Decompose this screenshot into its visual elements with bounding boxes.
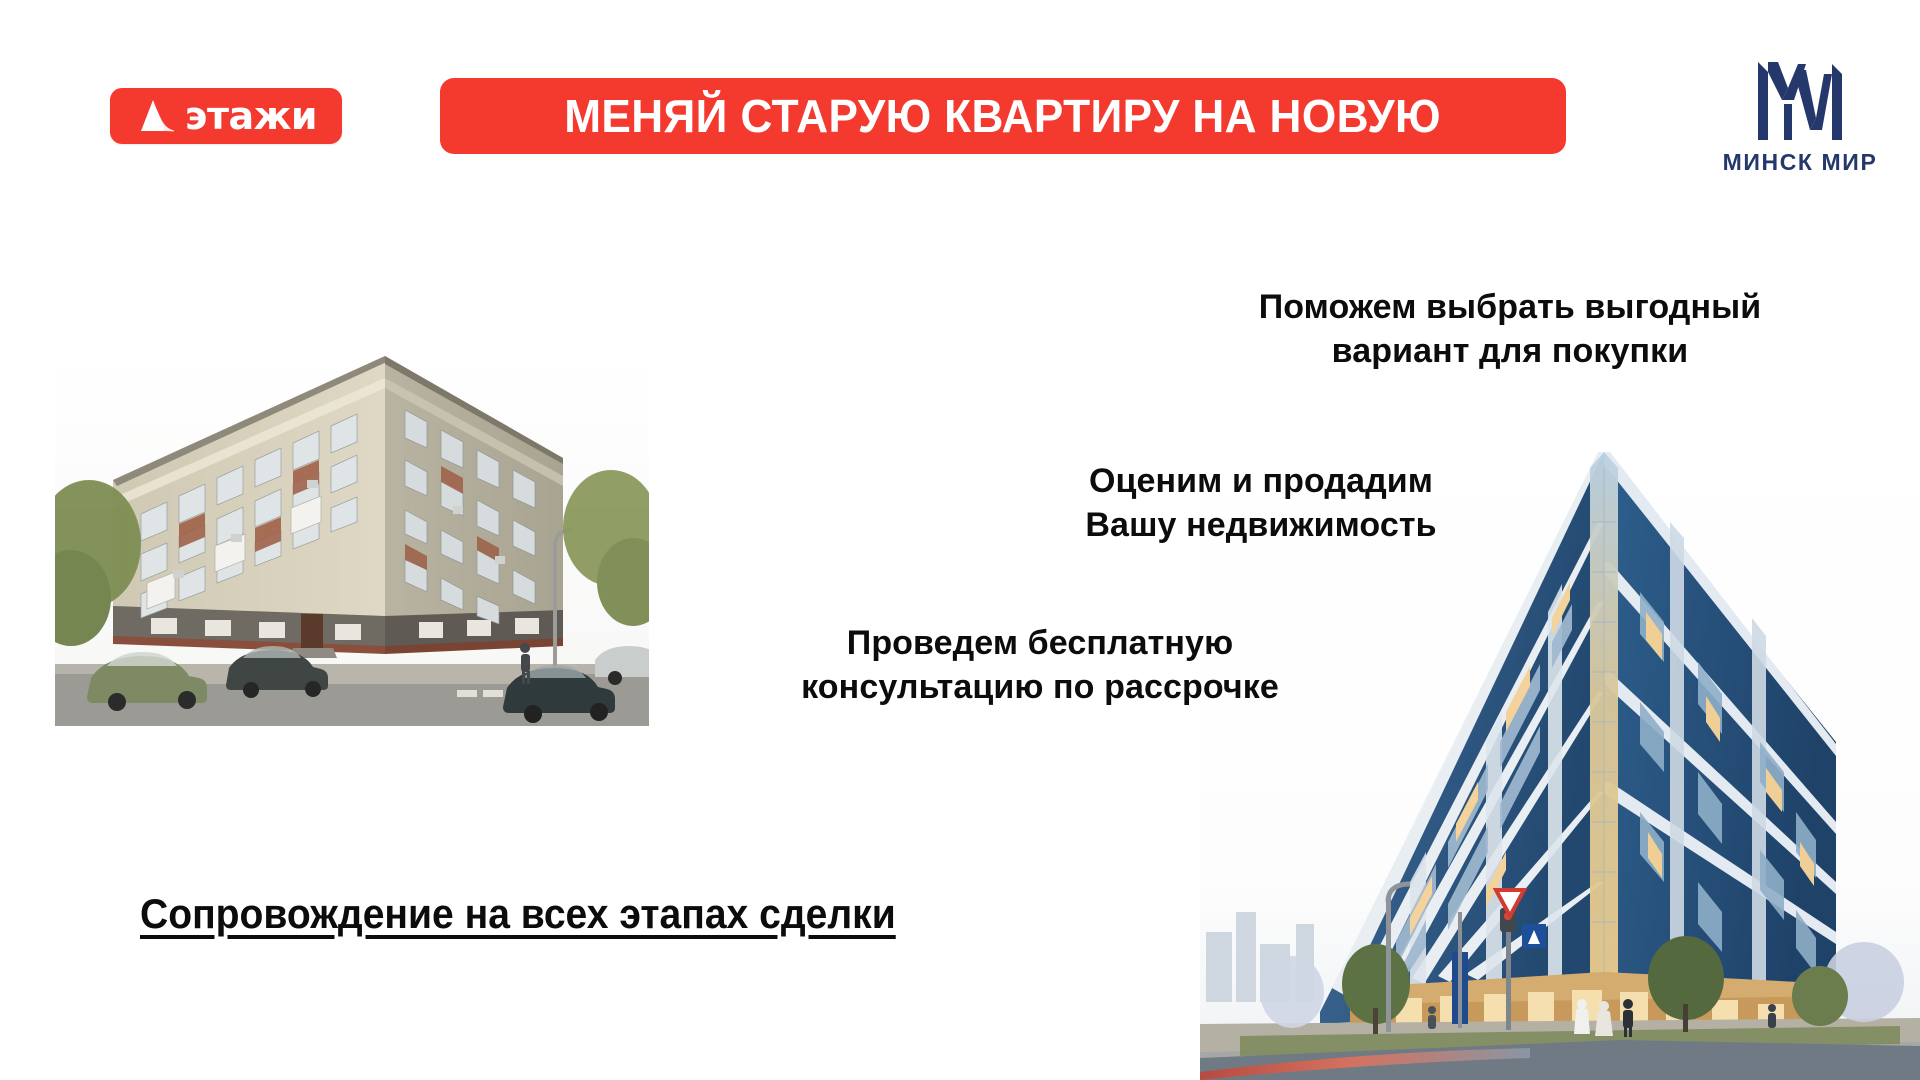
minsk-mir-logo-word: МИНСК МИР xyxy=(1723,151,1878,174)
promo-choose-line-1: Поможем выбрать выгодный xyxy=(1230,286,1790,330)
old-building-photo xyxy=(55,348,649,726)
promo-consult-line-1: Проведем бесплатную xyxy=(770,622,1310,666)
promo-choose-line-2: вариант для покупки xyxy=(1230,330,1790,374)
etazhi-logo-badge[interactable]: этажи xyxy=(110,88,342,144)
promo-choose: Поможем выбрать выгодный вариант для пок… xyxy=(1230,286,1790,373)
mw-monogram-icon xyxy=(1748,48,1852,144)
promo-evaluate-line-2: Вашу недвижимость xyxy=(1046,504,1476,548)
headline-banner: МЕНЯЙ СТАРУЮ КВАРТИРУ НА НОВУЮ xyxy=(440,78,1566,154)
headline-text: МЕНЯЙ СТАРУЮ КВАРТИРУ НА НОВУЮ xyxy=(565,89,1442,143)
promo-evaluate-line-1: Оценим и продадим xyxy=(1046,460,1476,504)
etazhi-logo-word: этажи xyxy=(185,97,317,135)
promo-consult: Проведем бесплатную консультацию по расс… xyxy=(770,622,1310,709)
building-roof-icon xyxy=(135,98,175,136)
old-building-illustration xyxy=(55,348,649,726)
promo-evaluate: Оценим и продадим Вашу недвижимость xyxy=(1046,460,1476,547)
footer-tagline: Сопровождение на всех этапах сделки xyxy=(140,890,896,938)
minsk-mir-logo[interactable]: МИНСК МИР xyxy=(1712,48,1888,186)
promo-consult-line-2: консультацию по рассрочке xyxy=(770,666,1310,710)
slide-header: этажи МЕНЯЙ СТАРУЮ КВАРТИРУ НА НОВУЮ xyxy=(0,0,1920,200)
